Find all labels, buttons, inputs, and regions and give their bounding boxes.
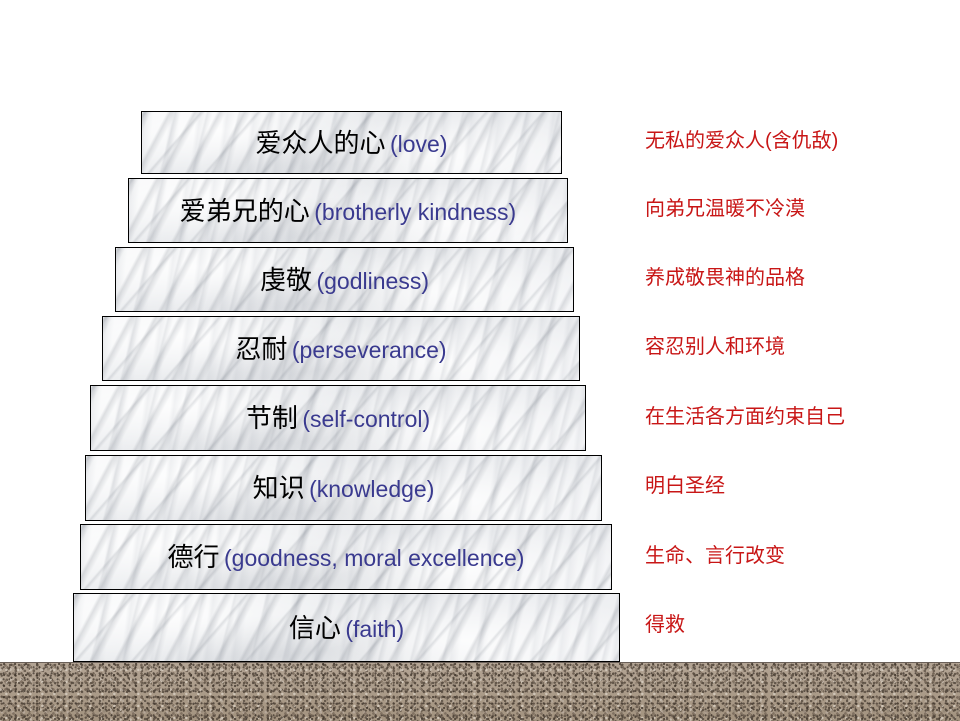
block-label-cn-5: 节制 [246,403,298,433]
annotation-8: 得救 [645,615,685,635]
block-label-5: 节制 (self-control) [246,405,430,431]
block-label-en-8: (faith) [345,616,404,642]
annotation-5: 在生活各方面约束自己 [645,407,845,427]
block-label-cn-4: 忍耐 [235,334,287,364]
block-label-2: 爱弟兄的心 (brotherly kindness) [180,198,516,224]
block-label-en-4: (perseverance) [292,337,447,363]
pyramid-block-4[interactable]: 忍耐 (perseverance) [102,316,580,381]
block-label-cn-2: 爱弟兄的心 [180,196,310,226]
pyramid-block-8[interactable]: 信心 (faith) [73,593,620,662]
annotation-6: 明白圣经 [645,476,725,496]
annotation-4: 容忍别人和环境 [645,337,785,357]
pyramid-diagram: 爱众人的心 (love)无私的爱众人(含仇敌)爱弟兄的心 (brotherly … [0,0,960,720]
pyramid-block-3[interactable]: 虔敬 (godliness) [115,247,574,312]
block-label-8: 信心 (faith) [289,615,404,641]
block-label-en-1: (love) [390,131,448,157]
pyramid-block-5[interactable]: 节制 (self-control) [90,385,586,451]
block-label-cn-3: 虔敬 [260,265,312,295]
block-label-7: 德行 (goodness, moral excellence) [168,544,525,570]
block-label-en-5: (self-control) [302,406,430,432]
block-label-en-6: (knowledge) [309,476,434,502]
block-label-1: 爱众人的心 (love) [256,130,448,156]
ground-strip [0,662,960,721]
block-label-cn-6: 知识 [253,473,305,503]
block-label-cn-8: 信心 [289,613,341,643]
annotation-7: 生命、言行改变 [645,546,785,566]
block-label-en-3: (godliness) [316,268,429,294]
block-label-cn-7: 德行 [168,542,220,572]
annotation-1: 无私的爱众人(含仇敌) [645,131,838,151]
pyramid-block-2[interactable]: 爱弟兄的心 (brotherly kindness) [128,178,568,243]
block-label-en-7: (goodness, moral excellence) [224,545,524,571]
block-label-4: 忍耐 (perseverance) [235,336,446,362]
annotation-2: 向弟兄温暖不冷漠 [645,199,805,219]
block-label-cn-1: 爱众人的心 [256,128,386,158]
pyramid-block-6[interactable]: 知识 (knowledge) [85,455,602,521]
pyramid-block-1[interactable]: 爱众人的心 (love) [141,111,562,174]
block-label-en-2: (brotherly kindness) [314,199,516,225]
annotation-3: 养成敬畏神的品格 [645,268,805,288]
block-label-3: 虔敬 (godliness) [260,267,429,293]
pyramid-block-7[interactable]: 德行 (goodness, moral excellence) [80,524,612,590]
block-label-6: 知识 (knowledge) [253,475,435,501]
